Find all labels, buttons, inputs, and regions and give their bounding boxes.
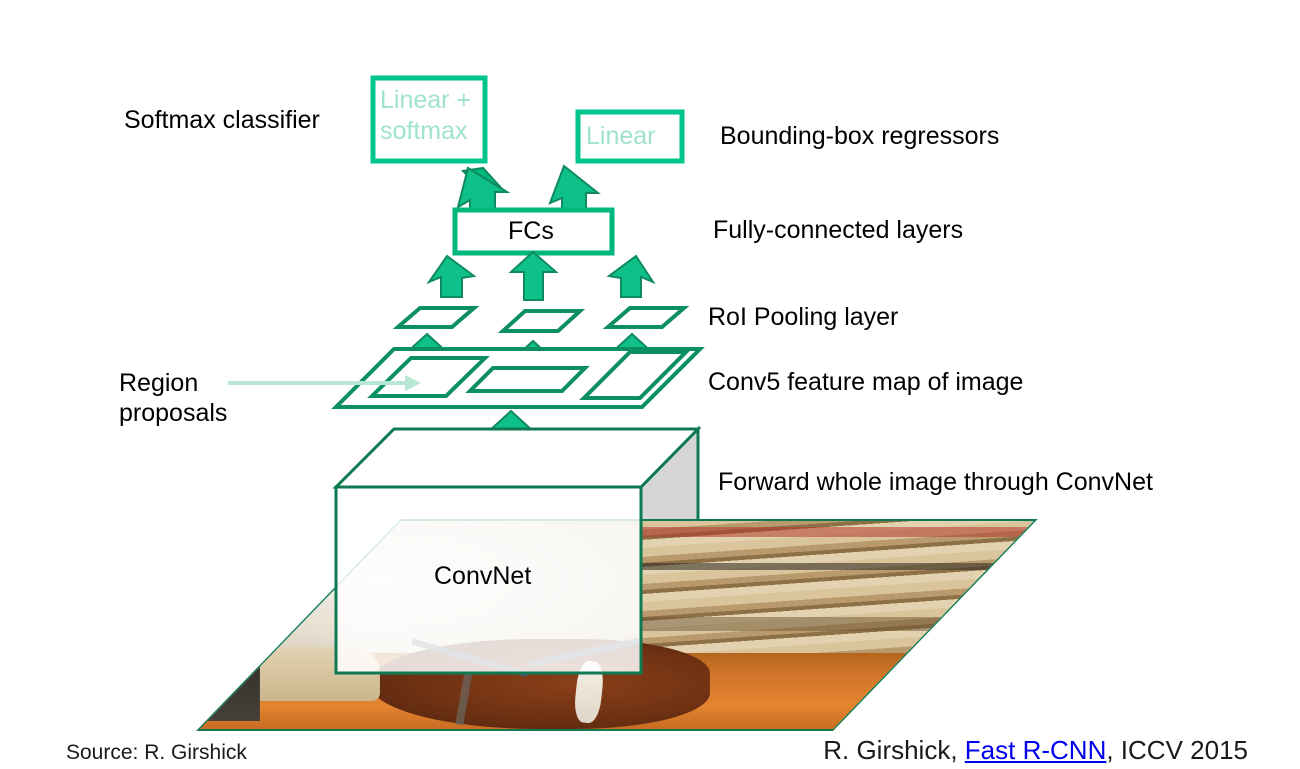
linear-box-label: Linear: [586, 122, 656, 151]
citation-prefix: R. Girshick,: [823, 735, 965, 765]
label-forward-whole-image: Forward whole image through ConvNet: [718, 467, 1153, 497]
fcs-box-label: FCs: [508, 217, 554, 246]
label-region-proposals-line1: Region: [119, 368, 198, 398]
convnet-label: ConvNet: [434, 562, 531, 591]
label-region-proposals-line2: proposals: [119, 398, 227, 428]
linear-softmax-box-label-line1: Linear +: [380, 86, 471, 115]
citation-suffix: , ICCV 2015: [1106, 735, 1248, 765]
label-bounding-box-regressors: Bounding-box regressors: [720, 121, 999, 151]
source-credit: Source: R. Girshick: [66, 741, 247, 765]
label-fully-connected-layers: Fully-connected layers: [713, 215, 963, 245]
label-softmax-classifier: Softmax classifier: [124, 105, 320, 135]
label-conv5-feature-map: Conv5 feature map of image: [708, 367, 1023, 397]
fast-rcnn-paper-link[interactable]: Fast R-CNN: [965, 735, 1107, 765]
label-roi-pooling-layer: RoI Pooling layer: [708, 302, 898, 332]
linear-softmax-box-label-line2: softmax: [380, 117, 468, 146]
citation: R. Girshick, Fast R-CNN, ICCV 2015: [823, 735, 1248, 766]
